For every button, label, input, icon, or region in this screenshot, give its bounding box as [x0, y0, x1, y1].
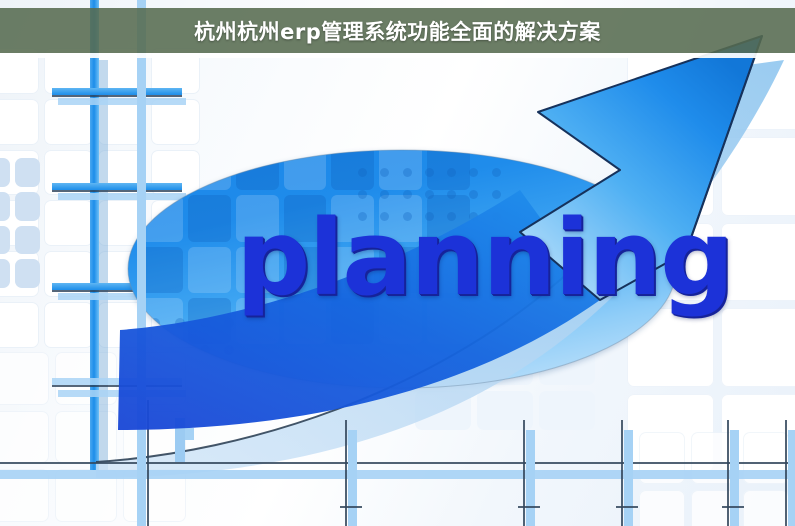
banner-underline: [0, 53, 795, 58]
chart-tick-small: [185, 428, 194, 440]
planning-wordmark: planning: [236, 206, 732, 310]
chart-bar-4: [624, 430, 633, 526]
chart-axis-vertical: [90, 0, 99, 470]
title-banner: 杭州杭州erp管理系统功能全面的解决方案: [0, 8, 795, 53]
axis-tick-1-pale: [58, 98, 186, 105]
axis-tick-4-pale: [58, 390, 186, 397]
chart-bar-4-foot: [616, 506, 638, 508]
chart-bar-2-foot: [340, 506, 362, 508]
chart-bar-5-foot: [722, 506, 744, 508]
chart-bar-3-foot: [518, 506, 540, 508]
chart-bar-3: [526, 430, 535, 526]
axis-tick-4-rule: [52, 385, 182, 387]
banner-canvas: planning 杭州杭州erp管理系统功能全面的解决方案: [0, 0, 795, 526]
chart-bar-4-edge: [621, 420, 623, 526]
axis-tick-4: [52, 378, 182, 385]
chart-stub-a: [175, 418, 185, 462]
banner-title-text: 杭州杭州erp管理系统功能全面的解决方案: [194, 16, 601, 46]
chart-bar-1-edge: [147, 400, 149, 526]
chart-bar-6: [788, 430, 795, 526]
chart-bar-6-edge: [785, 420, 787, 526]
axis-tick-1: [52, 88, 182, 95]
tile-grid-bottom-right: [639, 432, 789, 526]
chart-bar-3-edge: [523, 420, 525, 526]
chart-bar-1: [137, 0, 146, 526]
chart-bar-2: [348, 430, 357, 526]
chart-baseline-dark: [0, 462, 795, 464]
chart-bar-2-edge: [345, 420, 347, 526]
chart-bar-5: [730, 430, 739, 526]
ellipse-dot-pattern-2: [150, 318, 242, 364]
chart-axis-vertical-shadow: [99, 60, 108, 470]
chart-bar-5-edge: [727, 420, 729, 526]
axis-tick-1-rule: [52, 95, 182, 97]
tile-grid-left-tinted: [0, 158, 40, 288]
chart-baseline-pale: [0, 470, 795, 479]
